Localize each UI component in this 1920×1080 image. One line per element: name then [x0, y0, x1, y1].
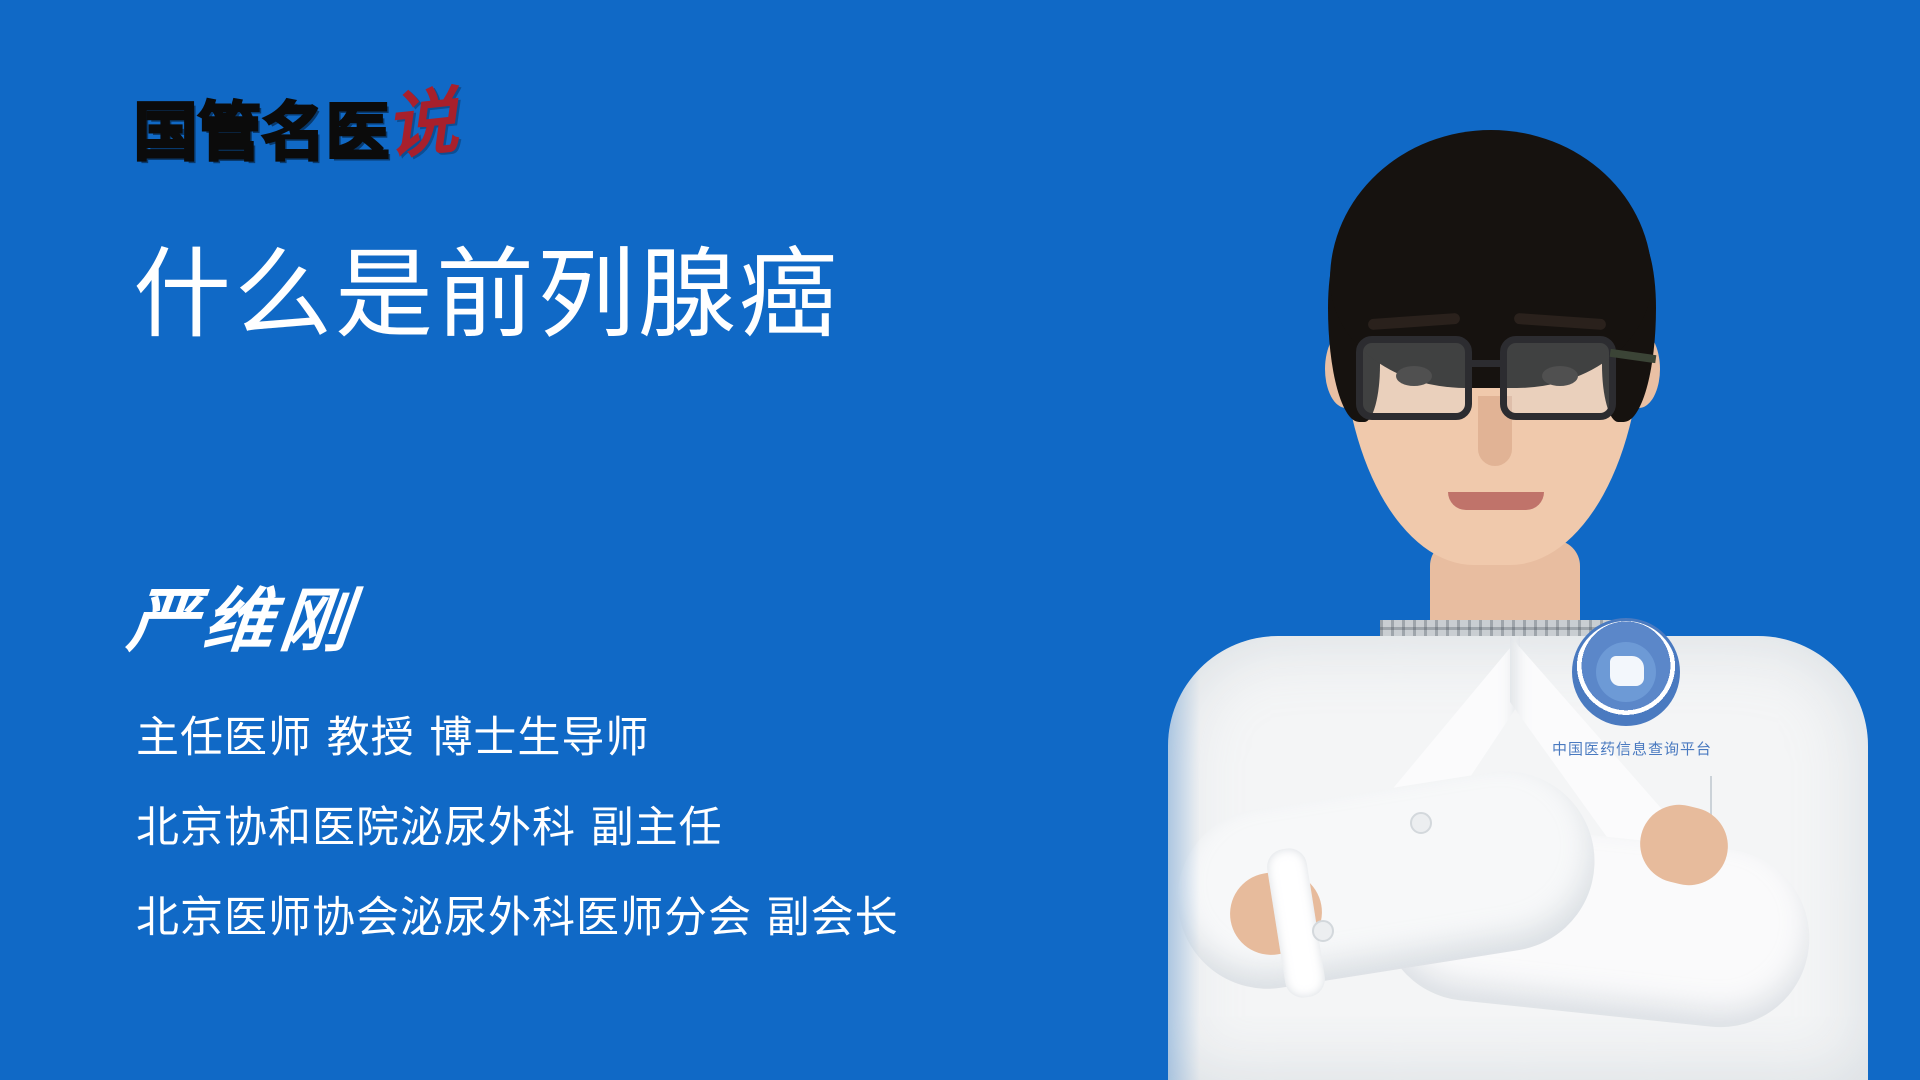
mouth: [1448, 492, 1544, 510]
eyeglass-bridge: [1472, 360, 1500, 367]
coat-button-lower: [1312, 920, 1334, 942]
credential-line: 主任医师 教授 博士生导师: [136, 714, 899, 762]
brand-logo-accent-text: 说: [382, 86, 461, 162]
speaker-name: 严维刚: [124, 586, 359, 656]
page-title: 什么是前列腺癌: [133, 243, 840, 349]
eyeglass-lens-left: [1356, 336, 1472, 420]
credential-line: 北京协和医院泌尿外科 副主任: [136, 804, 899, 852]
speaker-credentials: 主任医师 教授 博士生导师 北京协和医院泌尿外科 副主任 北京医师协会泌尿外科医…: [136, 714, 899, 942]
badge-map-icon: [1610, 656, 1644, 686]
badge-org-label: 中国医药信息查询平台: [1542, 738, 1722, 759]
slide-canvas: 中国医药信息查询平台 国管名医 说 什么是前列腺癌 严维刚 主任医师 教授 博士…: [0, 0, 1920, 1080]
brand-logo: 国管名医 说: [134, 96, 458, 164]
coat-button-upper: [1410, 812, 1432, 834]
eyeglass-lens-right: [1500, 336, 1616, 420]
photo-edge-blend: [1080, 0, 1200, 1080]
brand-logo-main-text: 国管名医: [134, 101, 390, 164]
doctor-portrait: 中国医药信息查询平台: [1080, 0, 1920, 1080]
credential-line: 北京医师协会泌尿外科医师分会 副会长: [136, 894, 899, 942]
